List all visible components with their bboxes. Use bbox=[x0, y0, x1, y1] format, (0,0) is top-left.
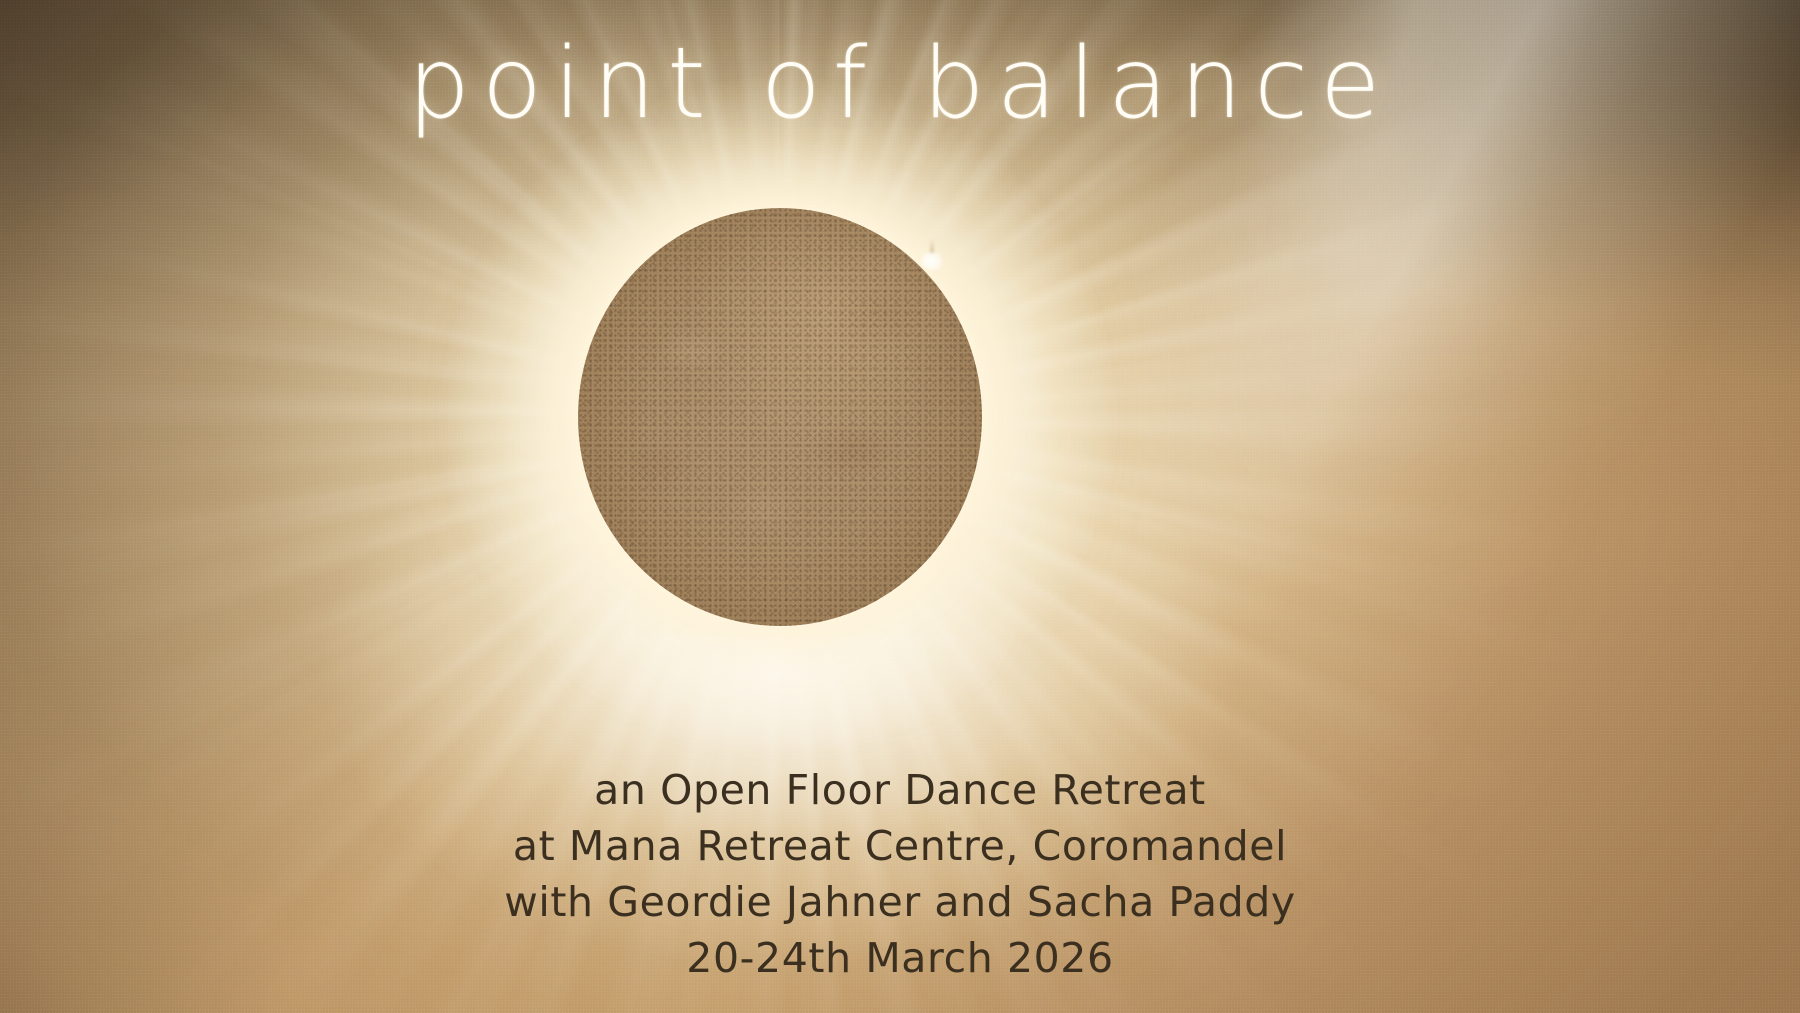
eclipse-orb bbox=[578, 208, 982, 626]
event-detail-line-venue: at Mana Retreat Centre, Coromandel bbox=[0, 818, 1800, 874]
event-detail-line-facilitators: with Geordie Jahner and Sacha Paddy bbox=[0, 874, 1800, 930]
event-details-block: an Open Floor Dance Retreat at Mana Retr… bbox=[0, 762, 1800, 987]
event-detail-line-dates: 20-24th March 2026 bbox=[0, 930, 1800, 986]
event-detail-line-kind: an Open Floor Dance Retreat bbox=[0, 762, 1800, 818]
page-title: point of balance bbox=[0, 28, 1800, 142]
poster-canvas: point of balance an Open Floor Dance Ret… bbox=[0, 0, 1800, 1013]
orb-limb-rim bbox=[576, 206, 984, 628]
orb-solar-prominence-icon bbox=[921, 252, 943, 270]
